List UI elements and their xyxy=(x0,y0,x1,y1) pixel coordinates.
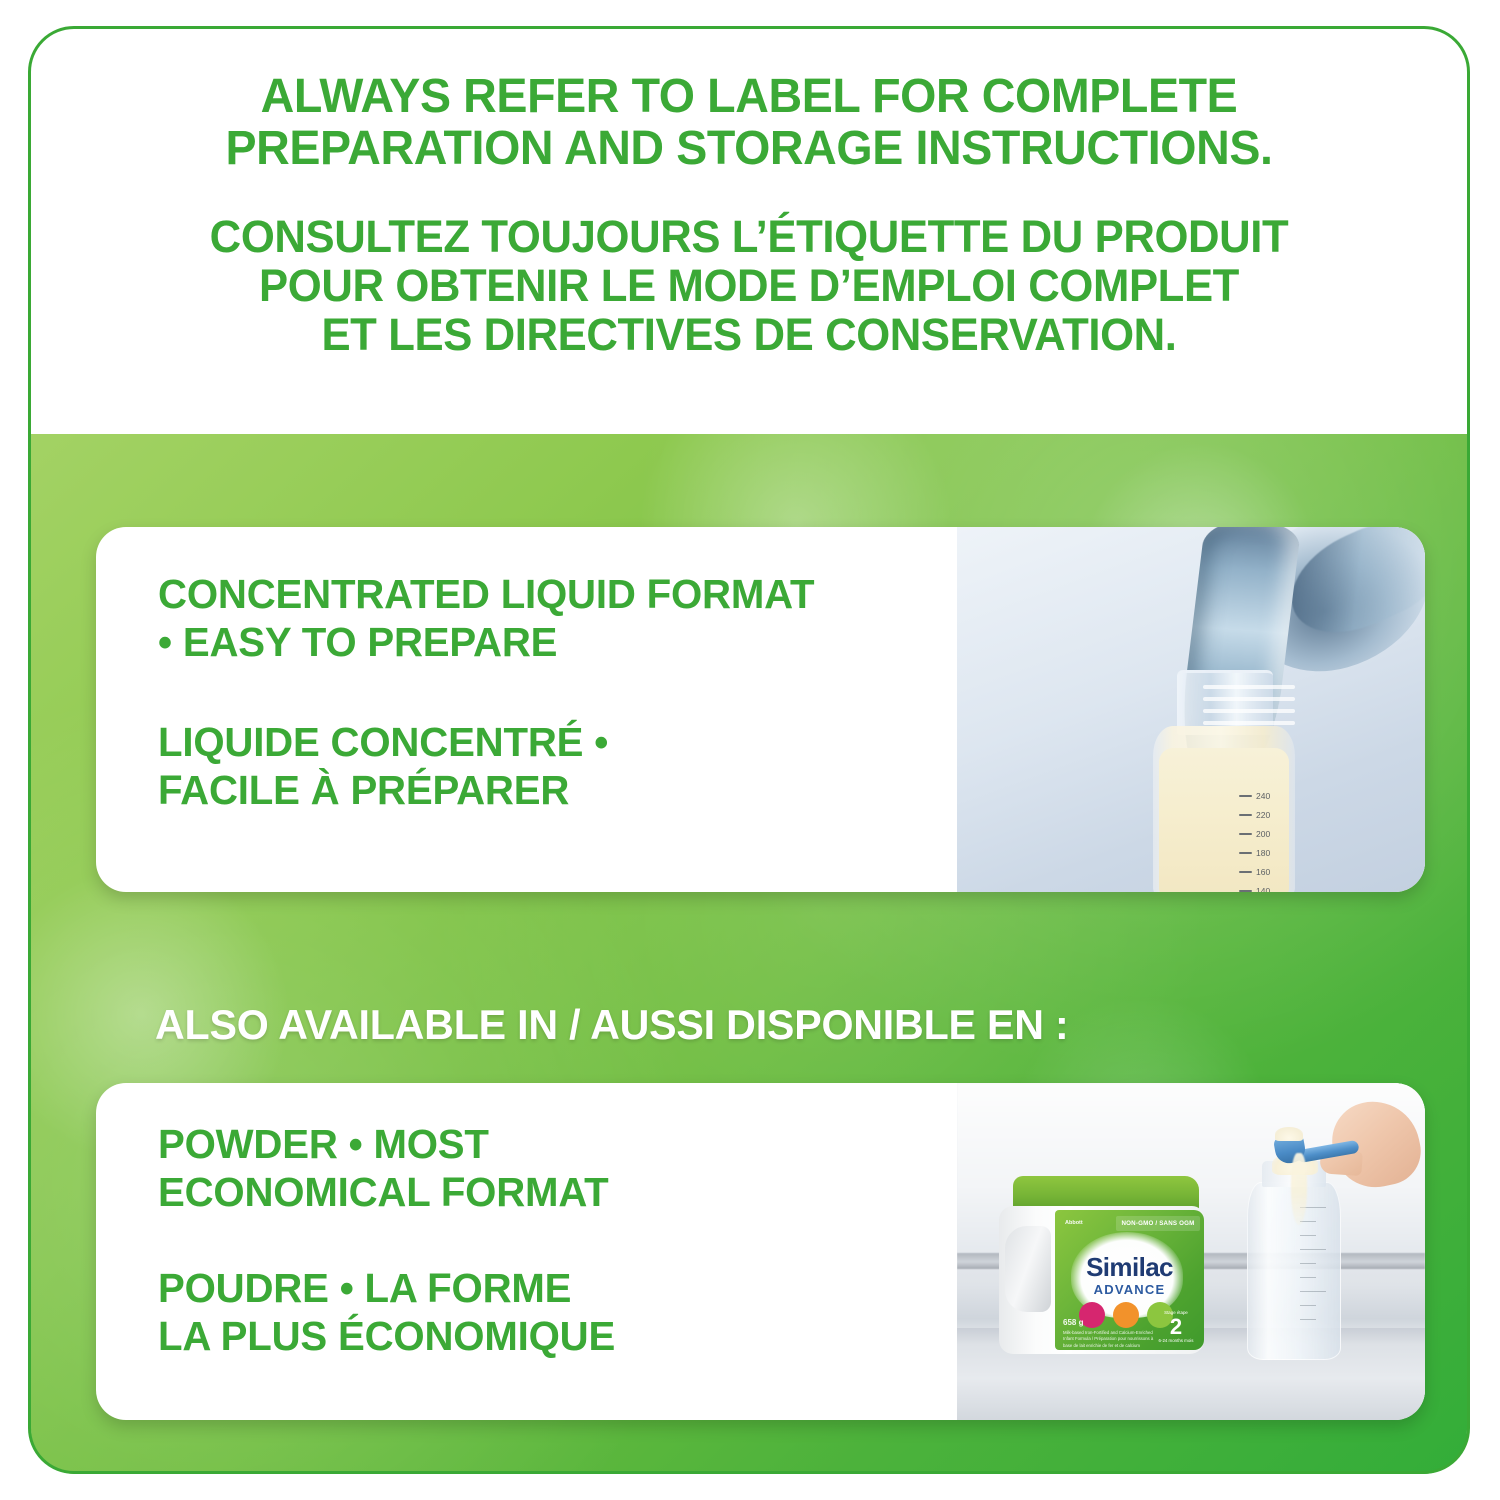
powder-in-scoop xyxy=(1275,1127,1303,1141)
scale-tick: 180 xyxy=(1239,843,1270,862)
bottle-thread xyxy=(1203,697,1295,701)
card-liquid-text: CONCENTRATED LIQUID FORMAT • EASY TO PRE… xyxy=(96,527,957,892)
tub-grip-handle xyxy=(1005,1226,1051,1312)
benefit-badge-icon xyxy=(1113,1302,1139,1328)
scale-label-160: 160 xyxy=(1256,867,1270,877)
card-powder-french-line-1: POUDRE • LA FORME xyxy=(158,1265,941,1313)
tub-body: Abbott NON-GMO / SANS OGM Similac ADVANC… xyxy=(999,1206,1204,1354)
scale-tick: 140 xyxy=(1239,881,1270,892)
green-gradient-panel: CONCENTRATED LIQUID FORMAT • EASY TO PRE… xyxy=(31,434,1467,1474)
scale-label-200: 200 xyxy=(1256,829,1270,839)
tub-product-label: Abbott NON-GMO / SANS OGM Similac ADVANC… xyxy=(1055,1210,1204,1350)
powder-pouring-stream xyxy=(1291,1153,1307,1225)
card-liquid-english-line-2: • EASY TO PREPARE xyxy=(158,619,941,667)
similac-brand-wordmark: Similac xyxy=(1055,1254,1204,1280)
card-liquid-french-line-2: FACILE À PRÉPARER xyxy=(158,767,941,815)
bottle-measurement-scale xyxy=(1300,1207,1334,1333)
scale-tick: 200 xyxy=(1239,824,1270,843)
header-band: ALWAYS REFER TO LABEL FOR COMPLETE PREPA… xyxy=(31,29,1467,434)
stage-number: 2 xyxy=(1154,1316,1198,1338)
photo-water-pouring-into-bottle: 240 220 200 180 160 140 120 100 xyxy=(957,527,1425,892)
header-french-line-3: ET LES DIRECTIVES DE CONSERVATION. xyxy=(89,310,1408,359)
header-text-block: ALWAYS REFER TO LABEL FOR COMPLETE PREPA… xyxy=(31,71,1467,359)
abbott-logo: Abbott xyxy=(1065,1220,1083,1226)
card-powder-english-line-2: ECONOMICAL FORMAT xyxy=(158,1169,941,1217)
baby-bottle-icon: 240 220 200 180 160 140 120 100 xyxy=(1153,670,1295,892)
tub-net-weight: 658 g xyxy=(1063,1318,1083,1327)
bottle-body: 240 220 200 180 160 140 120 100 xyxy=(1153,726,1295,892)
stage-caption-bottom: 6-24 months mois xyxy=(1154,1338,1198,1344)
scale-tick: 160 xyxy=(1239,862,1270,881)
scale-tick: 240 xyxy=(1239,786,1270,805)
advance-subbrand: ADVANCE xyxy=(1055,1282,1204,1297)
card-powder-format: POWDER • MOST ECONOMICAL FORMAT POUDRE •… xyxy=(96,1083,1425,1420)
header-french-line-2: POUR OBTENIR LE MODE D’EMPLOI COMPLET xyxy=(89,261,1408,310)
product-infographic: ALWAYS REFER TO LABEL FOR COMPLETE PREPA… xyxy=(0,0,1500,1500)
card-concentrated-liquid: CONCENTRATED LIQUID FORMAT • EASY TO PRE… xyxy=(96,527,1425,892)
also-available-banner: ALSO AVAILABLE IN / AUSSI DISPONIBLE EN … xyxy=(155,1001,1069,1049)
card-powder-english-line-1: POWDER • MOST xyxy=(158,1121,941,1169)
card-liquid-french-line-1: LIQUIDE CONCENTRÉ • xyxy=(158,719,941,767)
card-powder-french-line-2: LA PLUS ÉCONOMIQUE xyxy=(158,1313,941,1361)
bottle-measurement-scale: 240 220 200 180 160 140 120 100 xyxy=(1239,786,1270,892)
scale-label-180: 180 xyxy=(1256,848,1270,858)
photo-similac-tub-and-bottle: Abbott NON-GMO / SANS OGM Similac ADVANC… xyxy=(957,1083,1425,1420)
scale-tick: 220 xyxy=(1239,805,1270,824)
header-english-line-1: ALWAYS REFER TO LABEL FOR COMPLETE xyxy=(89,71,1408,123)
card-powder-text: POWDER • MOST ECONOMICAL FORMAT POUDRE •… xyxy=(96,1083,957,1420)
similac-powder-tub-icon: Abbott NON-GMO / SANS OGM Similac ADVANC… xyxy=(999,1176,1204,1354)
bottle-thread xyxy=(1203,709,1295,713)
scale-label-140: 140 xyxy=(1256,886,1270,893)
non-gmo-banner: NON-GMO / SANS OGM xyxy=(1116,1216,1200,1231)
bottle-thread xyxy=(1203,685,1295,689)
header-french-line-1: CONSULTEZ TOUJOURS L’ÉTIQUETTE DU PRODUI… xyxy=(89,212,1408,261)
stage-badge: Stage étape 2 6-24 months mois xyxy=(1154,1310,1198,1344)
card-liquid-english-line-1: CONCENTRATED LIQUID FORMAT xyxy=(158,571,941,619)
bottle-thread xyxy=(1203,721,1295,725)
header-english-line-2: PREPARATION AND STORAGE INSTRUCTIONS. xyxy=(89,123,1408,175)
scale-label-220: 220 xyxy=(1256,810,1270,820)
tub-description: Milk-based Iron-Fortified and Calcium-En… xyxy=(1063,1330,1156,1349)
scale-label-240: 240 xyxy=(1256,791,1270,801)
